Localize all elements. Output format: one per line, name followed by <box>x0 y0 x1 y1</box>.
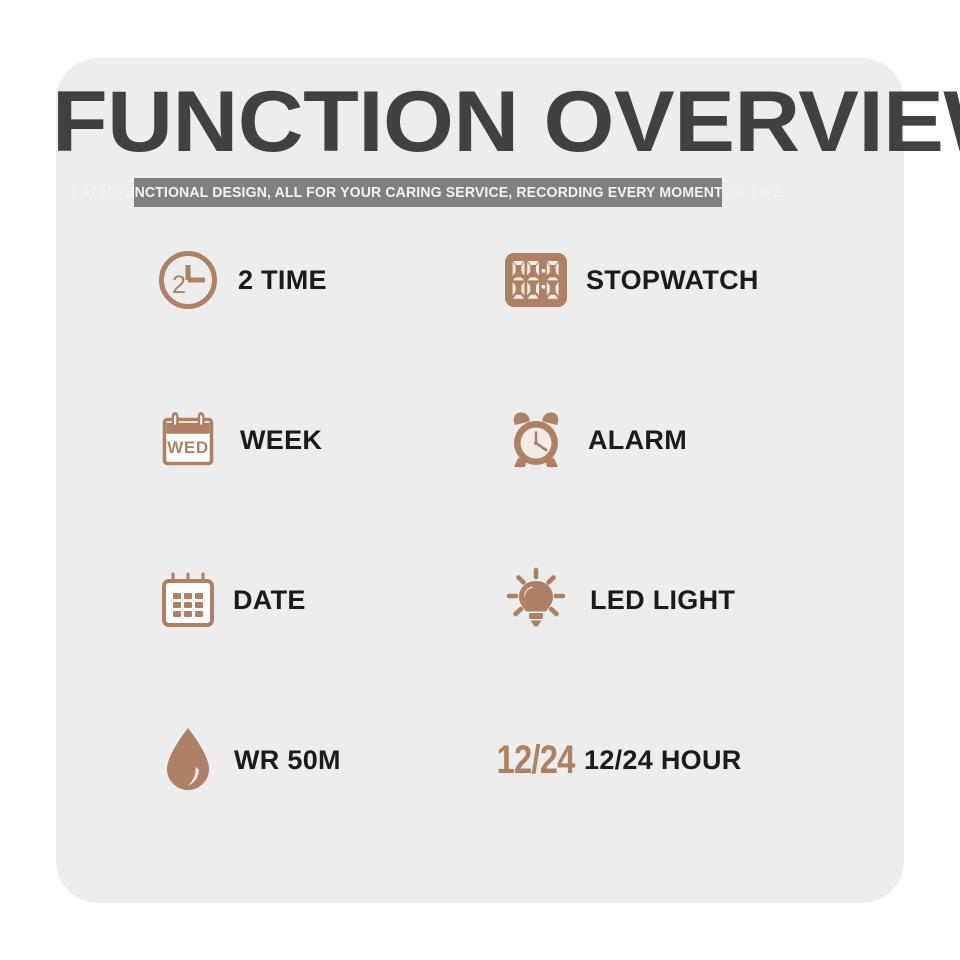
stopwatch-icon <box>498 242 574 318</box>
feature-item-date[interactable]: DATE <box>150 562 498 638</box>
alarm-clock-icon <box>498 402 574 478</box>
feature-label: STOPWATCH <box>586 265 759 296</box>
water-drop-icon <box>150 722 226 798</box>
infographic-canvas: FUNCTION OVERVIEW EACH FUNCTIONAL DESIGN… <box>0 0 960 960</box>
header: FUNCTION OVERVIEW EACH FUNCTIONAL DESIGN… <box>52 80 796 207</box>
feature-item-wr-50m[interactable]: WR 50M <box>150 722 498 798</box>
feature-label: 12/24 HOUR <box>584 745 742 776</box>
calendar-week-icon: WED <box>150 402 226 478</box>
feature-item-led-light[interactable]: LED LIGHT <box>498 562 810 638</box>
feature-row: WR 50M 12/24 12/24 HOUR <box>150 722 810 882</box>
feature-label: ALARM <box>588 425 687 456</box>
feature-item-stopwatch[interactable]: STOPWATCH <box>498 242 810 318</box>
calendar-week-day-text: WED <box>167 438 208 457</box>
feature-label: WR 50M <box>234 745 341 776</box>
feature-label: LED LIGHT <box>590 585 735 616</box>
12-24-hour-icon: 12/24 <box>498 722 574 798</box>
feature-grid: 2 2 TIME <box>150 242 810 882</box>
12-24-hour-icon-text: 12/24 <box>497 740 575 780</box>
feature-label: DATE <box>233 585 306 616</box>
feature-item-alarm[interactable]: ALARM <box>498 402 810 478</box>
svg-text:2: 2 <box>172 271 186 299</box>
feature-row: DATE <box>150 562 810 722</box>
led-lightbulb-icon <box>498 562 574 638</box>
feature-row: 2 2 TIME <box>150 242 810 402</box>
subtitle-text: EACH FUNCTIONAL DESIGN, ALL FOR YOUR CAR… <box>71 185 786 201</box>
feature-label: 2 TIME <box>238 265 327 296</box>
subtitle-bar: EACH FUNCTIONAL DESIGN, ALL FOR YOUR CAR… <box>134 178 722 207</box>
feature-label: WEEK <box>240 425 322 456</box>
feature-item-12-24-hour[interactable]: 12/24 12/24 HOUR <box>498 722 810 798</box>
feature-item-week[interactable]: WED WEEK <box>150 402 498 478</box>
calendar-date-icon <box>150 562 226 638</box>
feature-item-2-time[interactable]: 2 2 TIME <box>150 242 498 318</box>
feature-row: WED WEEK <box>150 402 810 562</box>
page-title: FUNCTION OVERVIEW <box>52 80 841 164</box>
clock-2-time-icon: 2 <box>150 242 226 318</box>
